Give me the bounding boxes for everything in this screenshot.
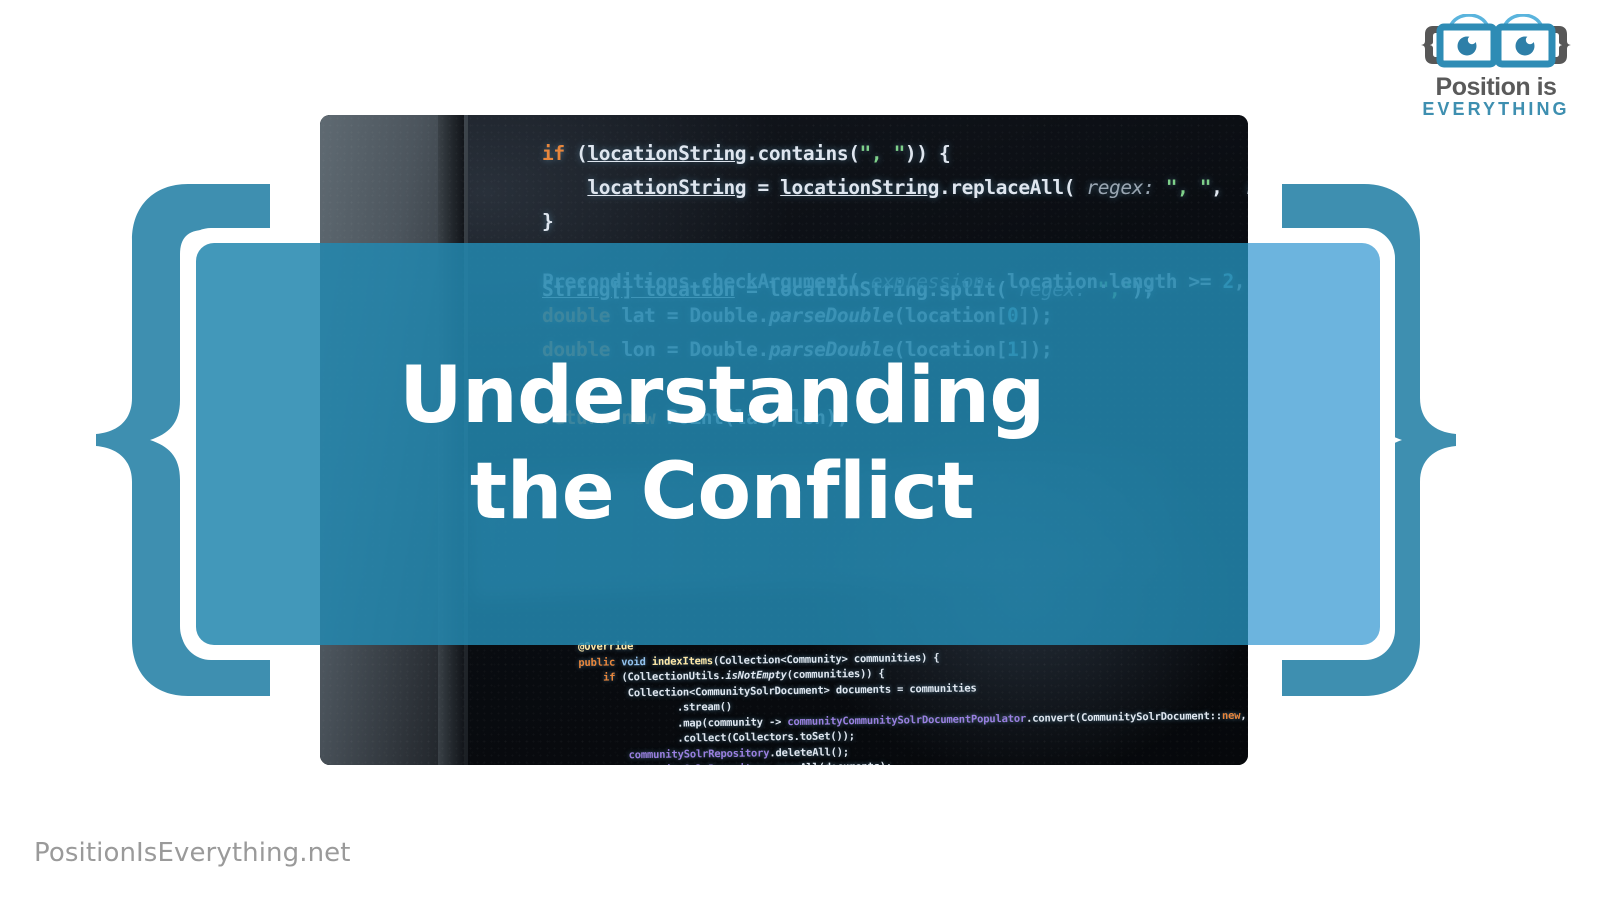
brand-wordmark: Position is EVERYTHING [1406,74,1586,119]
brand-word-bottom: EVERYTHING [1406,100,1586,119]
glasses-braces-logo-icon [1406,14,1586,76]
brand-logo[interactable]: Position is EVERYTHING [1406,14,1586,124]
brand-word-top: Position is [1406,74,1586,100]
banner-band-light [1248,243,1380,645]
title-banner-strip [196,243,1380,645]
footer-watermark: PositionIsEverything.net [34,838,351,868]
banner-band-dark [196,243,1248,645]
code-snippet-bottom: @Override public void indexItems(Collect… [578,630,1248,765]
